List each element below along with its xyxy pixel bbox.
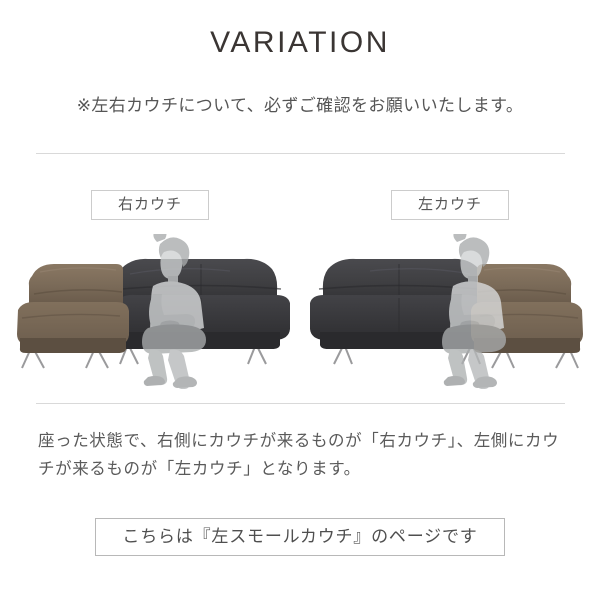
divider-bottom xyxy=(36,403,565,404)
couch-brown-section xyxy=(17,264,129,353)
page-subtitle: ※左右カウチについて、必ずご確認をお願いいたします。 xyxy=(0,91,600,116)
variation-list: 右カウチ xyxy=(0,190,600,389)
page-title: VARIATION xyxy=(0,26,600,60)
person-silhouette xyxy=(142,234,206,389)
variation-page: VARIATION ※左右カウチについて、必ずご確認をお願いいたします。 右カウ… xyxy=(0,0,600,600)
sofa-illustration-left-couch xyxy=(310,234,590,389)
description-text: 座った状態で、右側にカウチが来るものが「右カウチ」、左側にカウチが来るものが「左… xyxy=(38,427,566,484)
current-page-callout: こちらは『左スモールカウチ』のページです xyxy=(95,518,504,556)
variation-label-left-couch: 左カウチ xyxy=(391,190,509,220)
variation-label-right-couch: 右カウチ xyxy=(91,190,209,220)
person-silhouette xyxy=(442,234,506,389)
callout-row: こちらは『左スモールカウチ』のページです xyxy=(0,518,600,556)
variation-item-left-couch: 左カウチ xyxy=(300,190,600,389)
divider-top xyxy=(36,153,565,154)
sofa-illustration-right-couch xyxy=(10,234,290,389)
variation-item-right-couch: 右カウチ xyxy=(0,190,300,389)
